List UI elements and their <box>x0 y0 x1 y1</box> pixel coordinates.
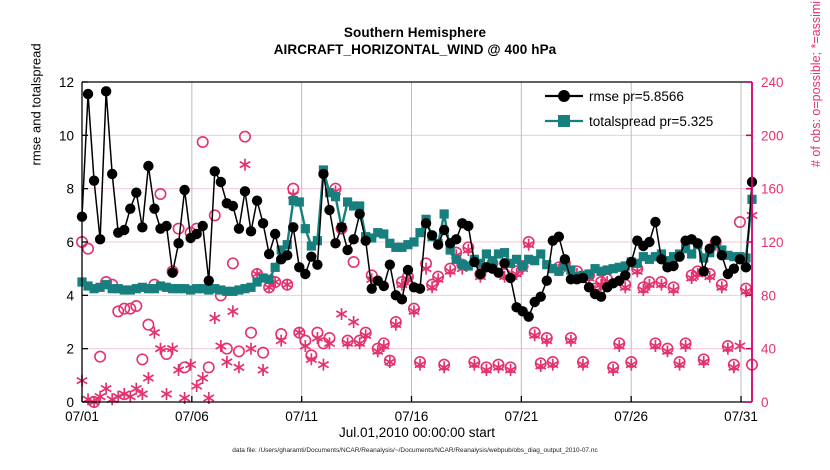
marker-open-circle <box>228 258 238 268</box>
marker-filled-circle <box>668 261 678 271</box>
marker-filled-circle <box>89 175 99 185</box>
marker-filled-circle <box>729 263 739 273</box>
marker-filled-circle <box>119 225 129 235</box>
marker-filled-circle <box>95 234 105 244</box>
marker-open-circle <box>143 319 153 329</box>
tick-label-bottom: 07/06 <box>175 409 209 424</box>
marker-filled-circle <box>433 239 443 249</box>
legend-item[interactable]: totalspread pr=5.325 <box>545 114 713 129</box>
marker-filled-square <box>687 249 696 258</box>
marker-filled-circle <box>125 203 135 213</box>
tick-label-left: 2 <box>66 342 74 357</box>
marker-filled-circle <box>258 218 268 228</box>
tick-label-left: 6 <box>66 235 74 250</box>
tick-label-right: 80 <box>761 288 776 303</box>
marker-open-circle <box>125 303 135 313</box>
tick-label-left: 8 <box>66 182 74 197</box>
marker-filled-circle <box>505 273 515 283</box>
marker-filled-square <box>500 248 509 257</box>
marker-filled-circle <box>493 267 503 277</box>
marker-open-circle <box>137 354 147 364</box>
marker-asterisk <box>258 364 268 376</box>
marker-asterisk <box>198 372 208 384</box>
tick-label-bottom: 07/11 <box>285 409 318 424</box>
marker-filled-circle <box>385 259 395 269</box>
marker-filled-circle <box>324 205 334 215</box>
chart-canvas: 0246810120408012016020024007/0107/0607/1… <box>0 0 830 470</box>
marker-filled-circle <box>421 218 431 228</box>
marker-filled-circle <box>137 222 147 232</box>
marker-filled-circle <box>252 195 262 205</box>
marker-filled-circle <box>692 238 702 248</box>
marker-filled-circle <box>300 269 310 279</box>
marker-filled-circle <box>161 221 171 231</box>
marker-open-circle <box>119 303 129 313</box>
marker-filled-circle <box>264 249 274 259</box>
marker-filled-circle <box>415 283 425 293</box>
marker-asterisk <box>234 361 244 373</box>
marker-filled-square <box>301 224 310 233</box>
marker-filled-square <box>379 229 388 238</box>
legend-label: totalspread pr=5.325 <box>589 114 713 129</box>
legend-item[interactable]: rmse pr=5.8566 <box>545 89 684 104</box>
marker-filled-circle <box>342 245 352 255</box>
tick-label-bottom: 07/01 <box>65 409 99 424</box>
marker-filled-circle <box>216 177 226 187</box>
marker-asterisk <box>191 380 201 392</box>
marker-filled-square <box>313 236 322 245</box>
marker-filled-circle <box>674 251 684 261</box>
marker-filled-circle <box>542 275 552 285</box>
marker-filled-circle <box>204 275 214 285</box>
marker-open-circle <box>173 223 183 233</box>
legend: rmse pr=5.8566totalspread pr=5.325 <box>545 89 713 129</box>
tick-label-right: 160 <box>761 182 784 197</box>
marker-filled-circle <box>348 234 358 244</box>
marker-filled-circle <box>626 257 636 267</box>
marker-filled-circle <box>288 222 298 232</box>
marker-filled-circle <box>210 166 220 176</box>
tick-label-bottom: 07/16 <box>395 409 429 424</box>
marker-asterisk <box>222 356 232 368</box>
marker-filled-circle <box>699 266 709 276</box>
tick-label-right: 200 <box>761 128 784 143</box>
marker-filled-circle <box>469 257 479 267</box>
marker-filled-circle <box>234 223 244 233</box>
marker-filled-circle <box>179 185 189 195</box>
tick-label-right: 240 <box>761 75 784 90</box>
marker-filled-circle <box>131 187 141 197</box>
marker-open-circle <box>246 327 256 337</box>
marker-open-circle <box>234 346 244 356</box>
marker-filled-square <box>295 197 304 206</box>
marker-asterisk <box>173 364 183 376</box>
plot-figure: Southern Hemisphere AIRCRAFT_HORIZONTAL_… <box>0 0 830 470</box>
marker-filled-circle <box>536 291 546 301</box>
marker-asterisk <box>210 312 220 324</box>
marker-open-circle <box>240 131 250 141</box>
marker-asterisk <box>161 388 171 400</box>
marker-asterisk <box>336 308 346 320</box>
marker-filled-circle <box>167 267 177 277</box>
marker-filled-square <box>265 275 274 284</box>
marker-filled-circle <box>403 265 413 275</box>
marker-filled-circle <box>650 217 660 227</box>
marker-asterisk <box>216 340 226 352</box>
marker-filled-square <box>415 228 424 237</box>
marker-asterisk <box>276 335 286 347</box>
marker-filled-circle <box>620 270 630 280</box>
legend-marker-circle <box>558 90 570 102</box>
marker-filled-circle <box>246 226 256 236</box>
marker-open-circle <box>735 217 745 227</box>
tick-label-right: 120 <box>761 235 784 250</box>
marker-asterisk <box>240 159 250 171</box>
marker-filled-circle <box>596 291 606 301</box>
marker-filled-square <box>409 237 418 246</box>
marker-filled-circle <box>318 169 328 179</box>
marker-filled-circle <box>198 221 208 231</box>
marker-filled-circle <box>330 238 340 248</box>
marker-filled-circle <box>360 235 370 245</box>
marker-open-circle <box>348 257 358 267</box>
marker-filled-circle <box>107 169 117 179</box>
marker-filled-circle <box>336 222 346 232</box>
marker-asterisk <box>735 340 745 352</box>
tick-label-left: 4 <box>66 288 74 303</box>
marker-filled-circle <box>149 203 159 213</box>
marker-filled-circle <box>644 237 654 247</box>
marker-filled-circle <box>439 225 449 235</box>
marker-filled-circle <box>173 238 183 248</box>
marker-filled-circle <box>427 230 437 240</box>
marker-asterisk <box>348 316 358 328</box>
marker-open-circle <box>155 189 165 199</box>
marker-filled-circle <box>741 262 751 272</box>
marker-filled-circle <box>523 311 533 321</box>
marker-filled-circle <box>228 201 238 211</box>
marker-filled-square <box>536 249 545 258</box>
marker-open-circle <box>210 210 220 220</box>
tick-label-bottom: 07/26 <box>614 409 648 424</box>
marker-asterisk <box>185 359 195 371</box>
marker-open-circle <box>113 306 123 316</box>
marker-filled-square <box>331 192 340 201</box>
tick-label-left: 10 <box>59 128 74 143</box>
legend-marker-square <box>558 115 570 127</box>
marker-asterisk <box>318 359 328 371</box>
marker-filled-circle <box>560 254 570 264</box>
marker-filled-circle <box>354 209 364 219</box>
marker-filled-circle <box>83 89 93 99</box>
tick-label-bottom: 07/31 <box>724 409 758 424</box>
tick-label-left: 12 <box>59 75 74 90</box>
marker-asterisk <box>101 383 111 395</box>
marker-filled-circle <box>499 258 509 268</box>
tick-label-left: 0 <box>66 395 74 410</box>
marker-asterisk <box>228 305 238 317</box>
marker-filled-circle <box>451 234 461 244</box>
marker-filled-circle <box>463 221 473 231</box>
marker-filled-circle <box>240 186 250 196</box>
marker-open-circle <box>198 137 208 147</box>
marker-open-circle <box>95 351 105 361</box>
marker-open-circle <box>83 243 93 253</box>
tick-label-right: 40 <box>761 342 776 357</box>
marker-asterisk <box>143 372 153 384</box>
marker-filled-circle <box>711 235 721 245</box>
marker-filled-circle <box>397 294 407 304</box>
marker-filled-circle <box>312 259 322 269</box>
marker-filled-square <box>440 209 449 218</box>
marker-filled-circle <box>578 273 588 283</box>
marker-filled-circle <box>143 161 153 171</box>
marker-filled-circle <box>379 281 389 291</box>
marker-filled-circle <box>101 86 111 96</box>
marker-filled-circle <box>717 250 727 260</box>
marker-filled-circle <box>554 231 564 241</box>
tick-label-right: 0 <box>761 395 769 410</box>
marker-open-circle <box>131 301 141 311</box>
marker-filled-square <box>271 263 280 272</box>
tick-label-bottom: 07/21 <box>504 409 538 424</box>
legend-label: rmse pr=5.8566 <box>589 89 684 104</box>
marker-filled-circle <box>282 250 292 260</box>
marker-open-circle <box>204 362 214 372</box>
marker-filled-circle <box>270 229 280 239</box>
